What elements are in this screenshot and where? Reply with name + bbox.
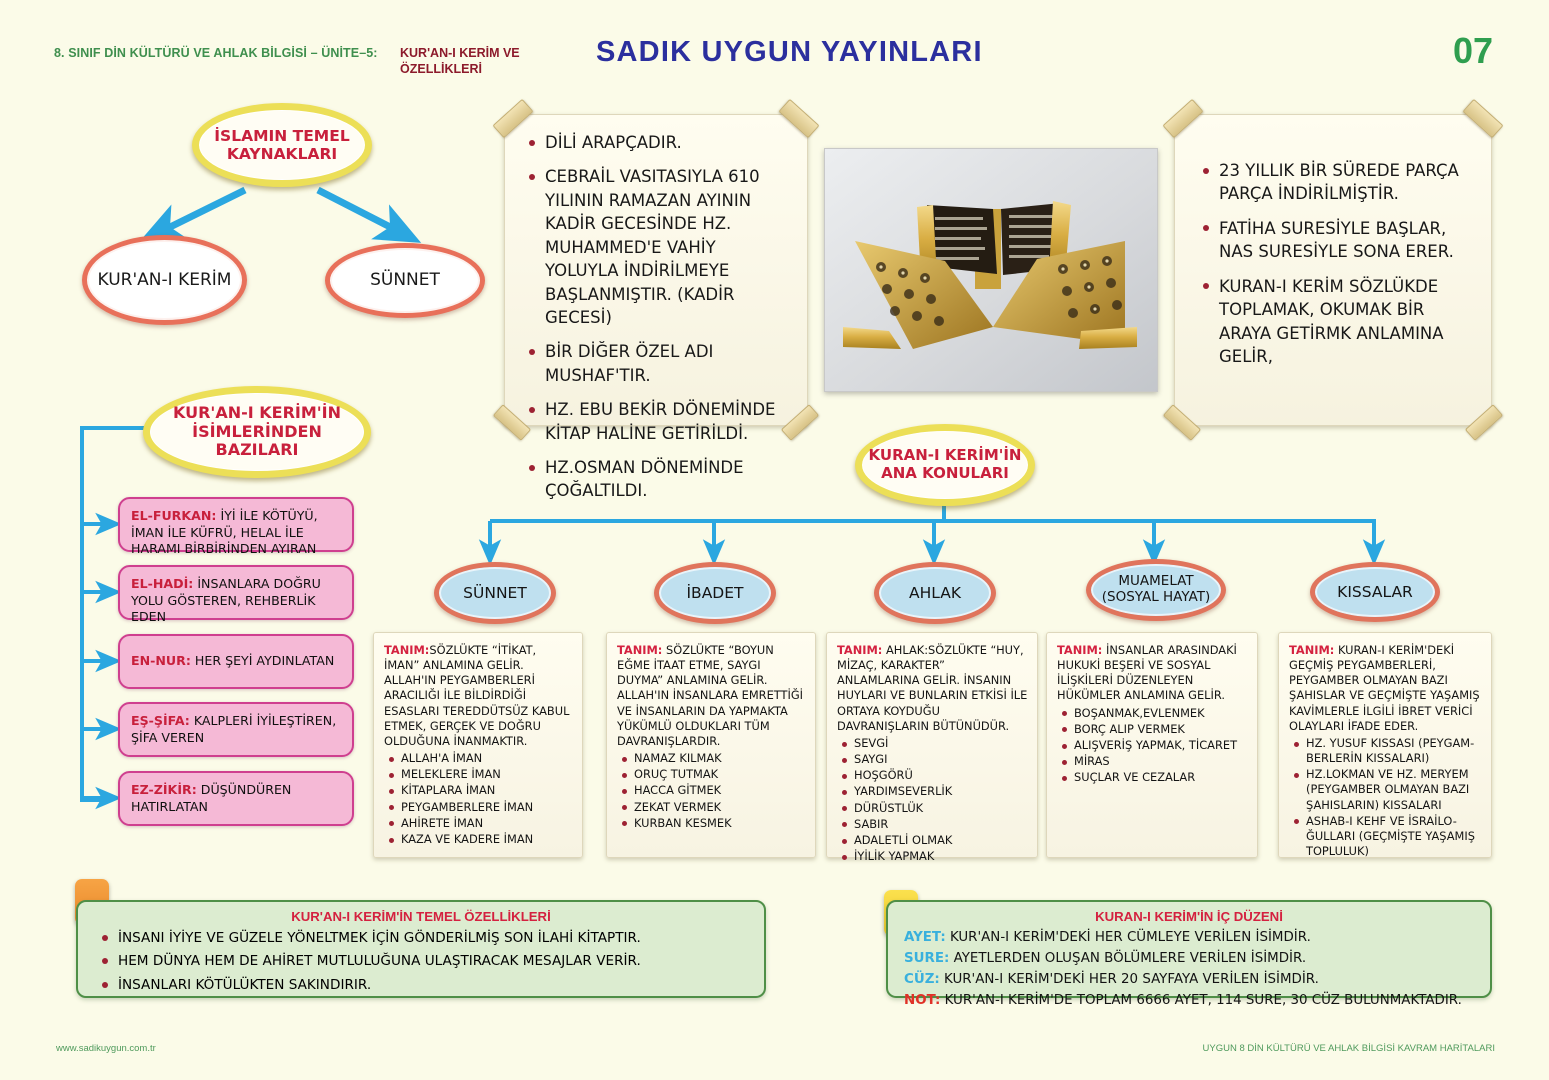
list-item: İYİLİK YAPMAK — [837, 849, 1028, 864]
header-unit-label: 8. SINIF DİN KÜLTÜRÜ VE AHLAK BİLGİSİ – … — [54, 46, 378, 60]
list-item: 23 YILLIK BİR SÜREDE PARÇA PARÇA İNDİRİL… — [1199, 159, 1475, 206]
structure-value: KUR'AN-I KERİM'DEKİ HER 20 SAYFAYA VERİL… — [940, 972, 1319, 987]
quran-facts-right-list: 23 YILLIK BİR SÜREDE PARÇA PARÇA İNDİRİL… — [1199, 159, 1475, 368]
list-item: HZ. EBU BEKİR DÖNEMİNDE KİTAP HALİNE GET… — [525, 398, 791, 445]
topic-bullet-list: SEVGİ SAYGI HOŞGÖRÜ YARDIMSEVERLİK DÜRÜS… — [837, 736, 1028, 864]
name-label: EN-NUR: — [131, 653, 191, 668]
definition-label: TANIM: — [617, 643, 662, 657]
list-item: HZ.LOKMAN VE HZ. MERYEM (PEYGAMBER OLMAY… — [1289, 767, 1482, 812]
topic-panel-ibadet: TANIM: SÖZLÜKTE “BOYUN EĞME İTAAT ETME, … — [606, 632, 816, 858]
structure-key: AYET: — [904, 930, 946, 945]
name-box-en-nur: EN-NUR: HER ŞEYİ AYDINLATAN — [118, 634, 354, 689]
structure-value: KUR'AN-I KERİM'DEKİ HER CÜMLEYE VERİLEN … — [946, 930, 1311, 945]
list-item: KAZA VE KADERE İMAN — [384, 832, 573, 847]
ellipse-topic-ahlak: AHLAK — [874, 562, 996, 624]
scroll-corner-bottom-left — [1163, 404, 1201, 441]
list-item: CEBRAİL VASITASIYLA 610 YILININ RAMAZAN … — [525, 165, 791, 329]
page-number: 07 — [1453, 30, 1493, 72]
structure-key: NOT: — [904, 993, 940, 1008]
scroll-corner-bottom-right — [1465, 404, 1503, 441]
topic-definition: TANIM:SÖZLÜKTE “İTİKAT, İMAN” ANLAMINA G… — [384, 643, 573, 749]
ellipse-topic-kissalar: KISSALAR — [1310, 562, 1440, 622]
list-item: HOŞGÖRÜ — [837, 768, 1028, 783]
list-item: BORÇ ALIP VERMEK — [1057, 722, 1248, 737]
ellipse-sunnet: SÜNNET — [325, 243, 485, 318]
list-item: BİR DİĞER ÖZEL ADI MUSHAF'TIR. — [525, 340, 791, 387]
list-item: HACCA GİTMEK — [617, 783, 806, 798]
list-item: BOŞANMAK,EVLENMEK — [1057, 706, 1248, 721]
list-item: NAMAZ KILMAK — [617, 751, 806, 766]
structure-line: CÜZ: KUR'AN-I KERİM'DEKİ HER 20 SAYFAYA … — [904, 970, 1480, 991]
name-description: HER ŞEYİ AYDINLATAN — [195, 653, 334, 668]
ellipse-quran-names-title: KUR'AN-I KERİM'İN İSİMLERİNDEN BAZILARI — [143, 386, 371, 478]
footer-website: www.sadikuygun.com.tr — [56, 1043, 156, 1054]
list-item: MELEKLERE İMAN — [384, 767, 573, 782]
list-item: HEM DÜNYA HEM DE AHİRET MUTLULUĞUNA ULAŞ… — [98, 951, 752, 971]
list-item: HZ.OSMAN DÖNEMİNDE ÇOĞALTILDI. — [525, 456, 791, 503]
internal-structure-lines: AYET: KUR'AN-I KERİM'DEKİ HER CÜMLEYE VE… — [888, 928, 1490, 1020]
list-item: AHİRETE İMAN — [384, 816, 573, 831]
topic-definition: TANIM: AHLAK:SÖZLÜKTE “HUY, MİZAÇ, KARAK… — [837, 643, 1028, 734]
ellipse-topic-ibadet: İBADET — [654, 562, 776, 624]
ellipse-main-topics-title: KURAN-I KERİM'İN ANA KONULARI — [855, 424, 1035, 506]
list-item: ALLAH'A İMAN — [384, 751, 573, 766]
list-item: İNSANLARI KÖTÜLÜKTEN SAKINDIRIR. — [98, 975, 752, 995]
topic-bullet-list: NAMAZ KILMAK ORUÇ TUTMAK HACCA GİTMEK ZE… — [617, 751, 806, 831]
basic-features-list: İNSANI İYİYE VE GÜZELE YÖNELTMEK İÇİN GÖ… — [78, 928, 764, 1006]
structure-line: NOT: KUR'AN-I KERİM'DE TOPLAM 6666 AYET,… — [904, 991, 1480, 1012]
structure-line: SURE: AYETLERDEN OLUŞAN BÖLÜMLERE VERİLE… — [904, 949, 1480, 970]
ellipse-topic-sunnet: SÜNNET — [434, 562, 556, 624]
list-item: ASHAB-I KEHF VE İSRAİLO-ĞULLARI (GEÇMİŞT… — [1289, 814, 1482, 859]
header-topic-label: KUR'AN-I KERİM VE ÖZELLİKLERİ — [400, 46, 580, 77]
structure-value: AYETLERDEN OLUŞAN BÖLÜMLERE VERİLEN İSİM… — [949, 951, 1306, 966]
topic-definition: TANIM: SÖZLÜKTE “BOYUN EĞME İTAAT ETME, … — [617, 643, 806, 749]
definition-label: TANIM: — [837, 643, 882, 657]
list-item: ADALETLİ OLMAK — [837, 833, 1028, 848]
name-label: EZ-ZİKİR: — [131, 782, 197, 797]
list-item: ALIŞVERİŞ YAPMAK, TİCARET — [1057, 738, 1248, 753]
topic-panel-ahlak: TANIM: AHLAK:SÖZLÜKTE “HUY, MİZAÇ, KARAK… — [826, 632, 1038, 858]
basic-features-box: KUR'AN-I KERİM'İN TEMEL ÖZELLİKLERİ İNSA… — [76, 900, 766, 998]
box-title: KUR'AN-I KERİM'İN TEMEL ÖZELLİKLERİ — [78, 902, 764, 928]
topic-bullet-list: HZ. YUSUF KISSASI (PEYGAM-BERLERİN KISSA… — [1289, 736, 1482, 859]
quran-facts-right-panel: 23 YILLIK BİR SÜREDE PARÇA PARÇA İNDİRİL… — [1174, 114, 1492, 426]
name-box-el-hadi: EL-HADİ: İNSANLARA DOĞRU YOLU GÖSTEREN, … — [118, 565, 354, 620]
definition-label: TANIM: — [384, 643, 429, 657]
name-label: EL-FURKAN: — [131, 508, 216, 523]
definition-text: SÖZLÜKTE “İTİKAT, İMAN” ANLAMINA GELİR. … — [384, 643, 569, 748]
list-item: SAYGI — [837, 752, 1028, 767]
footer-series-label: UYGUN 8 DİN KÜLTÜRÜ VE AHLAK BİLGİSİ KAV… — [1203, 1043, 1495, 1054]
definition-label: TANIM: — [1289, 643, 1334, 657]
ellipse-kuran-i-kerim: KUR'AN-I KERİM — [82, 235, 247, 325]
list-item: ZEKAT VERMEK — [617, 800, 806, 815]
publisher-brand-title: SADIK UYGUN YAYINLARI — [596, 36, 983, 69]
list-item: FATİHA SURESİYLE BAŞLAR, NAS SURESİYLE S… — [1199, 217, 1475, 264]
list-item: YARDIMSEVERLİK — [837, 784, 1028, 799]
name-label: EL-HADİ: — [131, 576, 193, 591]
topic-definition: TANIM: KURAN-I KERİM'DEKİ GEÇMİŞ PEYGAMB… — [1289, 643, 1482, 734]
name-box-el-furkan: EL-FURKAN: İYİ İLE KÖTÜYÜ, İMAN İLE KÜFR… — [118, 497, 354, 552]
quran-facts-left-list: DİLİ ARAPÇADIR. CEBRAİL VASITASIYLA 610 … — [525, 131, 791, 503]
list-item: İNSANI İYİYE VE GÜZELE YÖNELTMEK İÇİN GÖ… — [98, 928, 752, 948]
topic-panel-kissalar: TANIM: KURAN-I KERİM'DEKİ GEÇMİŞ PEYGAMB… — [1278, 632, 1492, 858]
topic-definition: TANIM: İNSANLAR ARASINDAKİ HUKUKİ BEŞERİ… — [1057, 643, 1248, 704]
topic-bullet-list: BOŞANMAK,EVLENMEK BORÇ ALIP VERMEK ALIŞV… — [1057, 706, 1248, 786]
list-item: DİLİ ARAPÇADIR. — [525, 131, 791, 154]
quran-stand-photo — [824, 148, 1158, 392]
list-item: SEVGİ — [837, 736, 1028, 751]
list-item: MİRAS — [1057, 754, 1248, 769]
ellipse-islam-sources: İSLAMIN TEMEL KAYNAKLARI — [192, 103, 372, 187]
structure-value: KUR'AN-I KERİM'DE TOPLAM 6666 AYET, 114 … — [940, 993, 1462, 1008]
topic-bullet-list: ALLAH'A İMAN MELEKLERE İMAN KİTAPLARA İM… — [384, 751, 573, 847]
topic-panel-sunnet: TANIM:SÖZLÜKTE “İTİKAT, İMAN” ANLAMINA G… — [373, 632, 583, 858]
name-label: EŞ-ŞİFA: — [131, 713, 190, 728]
quran-stand-illustration — [825, 149, 1158, 392]
quran-facts-left-panel: DİLİ ARAPÇADIR. CEBRAİL VASITASIYLA 610 … — [504, 114, 808, 426]
structure-key: CÜZ: — [904, 972, 940, 987]
list-item: KURBAN KESMEK — [617, 816, 806, 831]
list-item: ORUÇ TUTMAK — [617, 767, 806, 782]
structure-key: SURE: — [904, 951, 949, 966]
list-item: KURAN-I KERİM SÖZLÜKDE TOPLAMAK, OKUMAK … — [1199, 275, 1475, 369]
name-box-ez-zikir: EZ-ZİKİR: DÜŞÜNDÜREN HATIRLATAN — [118, 771, 354, 826]
list-item: HZ. YUSUF KISSASI (PEYGAM-BERLERİN KISSA… — [1289, 736, 1482, 766]
list-item: PEYGAMBERLERE İMAN — [384, 800, 573, 815]
name-box-es-sifa: EŞ-ŞİFA: KALPLERİ İYİLEŞTİREN, ŞİFA VERE… — [118, 702, 354, 757]
box-title: KURAN-I KERİM'İN İÇ DÜZENİ — [888, 902, 1490, 928]
topic-panel-muamelat: TANIM: İNSANLAR ARASINDAKİ HUKUKİ BEŞERİ… — [1046, 632, 1258, 858]
definition-label: TANIM: — [1057, 643, 1102, 657]
list-item: SUÇLAR VE CEZALAR — [1057, 770, 1248, 785]
list-item: DÜRÜSTLÜK — [837, 801, 1028, 816]
ellipse-topic-muamelat: MUAMELAT (SOSYAL HAYAT) — [1086, 559, 1226, 621]
list-item: SABIR — [837, 817, 1028, 832]
list-item: KİTAPLARA İMAN — [384, 783, 573, 798]
definition-text: SÖZLÜKTE “BOYUN EĞME İTAAT ETME, SAYGI D… — [617, 643, 803, 748]
structure-line: AYET: KUR'AN-I KERİM'DEKİ HER CÜMLEYE VE… — [904, 928, 1480, 949]
worksheet-page: 8. SINIF DİN KÜLTÜRÜ VE AHLAK BİLGİSİ – … — [0, 0, 1549, 1080]
internal-structure-box: KURAN-I KERİM'İN İÇ DÜZENİ AYET: KUR'AN-… — [886, 900, 1492, 998]
